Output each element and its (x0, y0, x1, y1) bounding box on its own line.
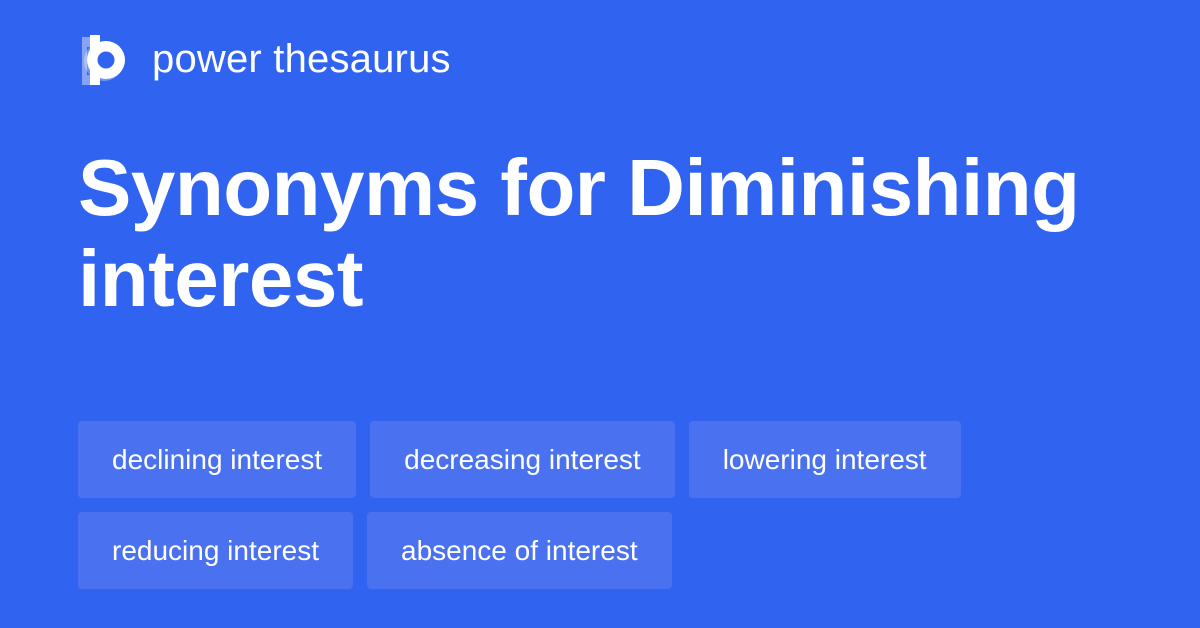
share-card: power thesaurus Synonyms for Diminishing… (0, 0, 1200, 628)
synonym-chip[interactable]: declining interest (78, 421, 356, 498)
page-title: Synonyms for Diminishing interest (78, 142, 1138, 324)
synonym-chip-list: declining interest decreasing interest l… (78, 421, 1138, 589)
synonym-chip[interactable]: decreasing interest (370, 421, 675, 498)
synonym-chip[interactable]: reducing interest (78, 512, 353, 589)
power-thesaurus-b-logo-icon (78, 33, 130, 85)
synonym-chip[interactable]: lowering interest (689, 421, 961, 498)
synonym-chip[interactable]: absence of interest (367, 512, 672, 589)
brand-header[interactable]: power thesaurus (78, 30, 451, 88)
brand-name: power thesaurus (152, 39, 451, 79)
